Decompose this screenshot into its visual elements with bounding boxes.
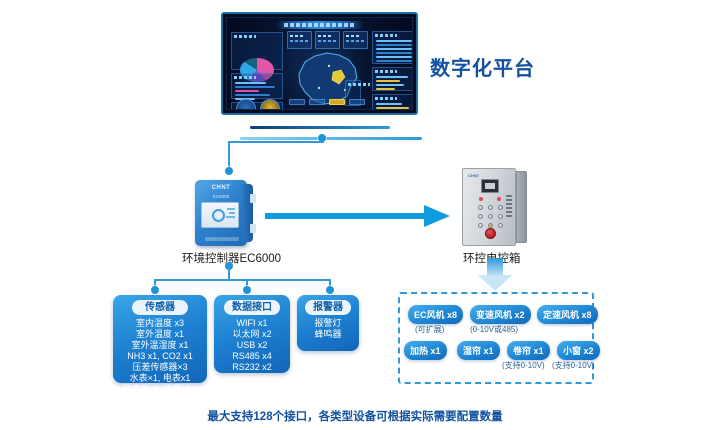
output-note-window: (支持0-10V) — [552, 360, 595, 371]
cabinet-switch[interactable] — [478, 205, 483, 210]
controller-screen[interactable] — [201, 202, 239, 228]
cabinet-brand: CHNT — [468, 173, 479, 178]
spec-box-sensors-title: 传感器 — [132, 300, 188, 315]
output-pill-heating[interactable]: 加热 x1 — [404, 341, 447, 360]
dashboard-title-bar — [276, 21, 364, 29]
dashboard-button[interactable] — [309, 99, 325, 105]
monitor-stand-bar-upper — [250, 126, 390, 129]
connector-dot-sensor — [151, 286, 159, 294]
output-note-ec-fan: (可扩展) — [415, 324, 444, 335]
cabinet-switch[interactable] — [478, 223, 483, 228]
page-title: 数字化平台 — [430, 52, 535, 81]
cabinet-switch[interactable] — [498, 205, 503, 210]
dashboard-panel-table — [372, 31, 413, 64]
cabinet-switch[interactable] — [498, 214, 503, 219]
output-pill-variable-fan[interactable]: 变速风机 x2 — [470, 305, 531, 324]
cabinet-switch[interactable] — [488, 214, 493, 219]
cabinet-led — [497, 197, 501, 201]
dashboard-panel-bars-right — [372, 94, 413, 110]
cabinet-switch[interactable] — [478, 214, 483, 219]
footer-caption: 最大支持128个接口，各类型设备可根据实际需要配置数量 — [0, 408, 710, 424]
cabinet-switch[interactable] — [498, 223, 503, 228]
cabinet-vent — [506, 195, 512, 217]
dashboard-panel-gauges — [231, 102, 283, 110]
control-cabinet: CHNT — [462, 168, 528, 246]
spec-box-data-interface-list: WIFI x1 以太网 x2 USB x2 RS485 x4 RS232 x2 — [214, 318, 290, 378]
cabinet-switch[interactable] — [488, 205, 493, 210]
dashboard-screen — [226, 17, 413, 110]
connector-dot-alarm — [326, 286, 334, 294]
spec-box-sensors-list: 室内温度 x3 室外温度 x1 室外温湿度 x1 NH3 x1, CO2 x1 … — [113, 318, 207, 411]
output-pill-cooling-pad[interactable]: 湿帘 x1 — [457, 341, 500, 360]
monitor-stand-bar-lower — [240, 137, 422, 140]
spec-box-sensors: 传感器 室内温度 x3 室外温度 x1 室外温湿度 x1 NH3 x1, CO2… — [113, 295, 207, 383]
diagram-canvas: 数字化平台 CHNT EC6000 环境控制器EC6000 CHNT — [0, 0, 710, 430]
flow-arrow-right — [265, 205, 450, 227]
output-note-variable-fan: (0-10V或485) — [470, 324, 518, 335]
cabinet-hmi-screen[interactable] — [481, 179, 499, 193]
connector-stem — [228, 266, 230, 280]
dashboard-button[interactable] — [289, 99, 305, 105]
output-note-curtain: (支持0-10V) — [502, 360, 545, 371]
output-pill-window[interactable]: 小窗 x2 — [557, 341, 600, 360]
spec-box-alarm: 报警器 报警灯 蜂鸣器 — [297, 295, 359, 351]
flow-arrow-down — [478, 258, 512, 292]
controller-model: EC6000 — [195, 194, 247, 199]
spec-box-alarm-title: 报警器 — [305, 300, 351, 315]
emergency-stop-button[interactable] — [485, 228, 496, 239]
output-pill-ec-fan[interactable]: EC风机 x8 — [408, 305, 463, 324]
connector-dot-controller-top — [225, 167, 233, 175]
spec-box-data-interface-title: 数据接口 — [224, 300, 280, 315]
dashboard-panel-pie — [231, 32, 283, 70]
controller-brand: CHNT — [195, 185, 247, 191]
environment-controller: CHNT EC6000 — [195, 180, 257, 246]
cabinet-led — [479, 197, 483, 201]
dashboard-panel-progress — [372, 67, 413, 91]
spec-box-data-interface: 数据接口 WIFI x1 以太网 x2 USB x2 RS485 x4 RS23… — [214, 295, 290, 373]
output-pill-curtain[interactable]: 卷帘 x1 — [507, 341, 550, 360]
connector-dot-interface — [243, 286, 251, 294]
connector-line-top — [228, 141, 324, 143]
dashboard-panel-bars-left — [231, 73, 283, 99]
connector-branch-bar — [154, 279, 330, 281]
dashboard-monitor — [221, 12, 418, 115]
dashboard-button[interactable] — [349, 99, 365, 105]
dashboard-button-active[interactable] — [329, 99, 345, 105]
output-pill-fixed-fan[interactable]: 定速风机 x8 — [537, 305, 598, 324]
spec-box-alarm-list: 报警灯 蜂鸣器 — [297, 318, 359, 345]
